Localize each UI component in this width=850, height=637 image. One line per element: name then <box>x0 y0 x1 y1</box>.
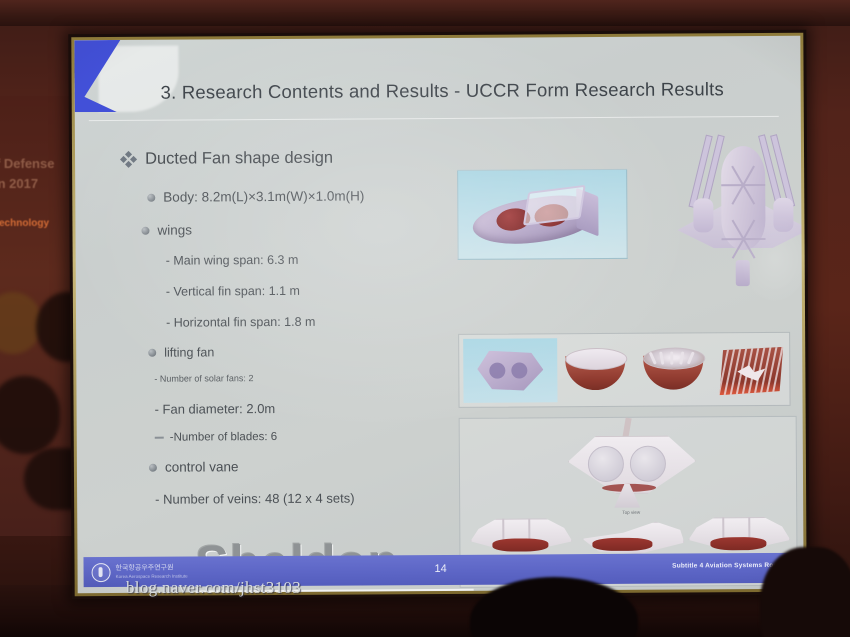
wall-poster: of Defense in 2017 m technology <box>0 96 78 536</box>
bullet-control-vane-label: control vane <box>165 459 239 474</box>
ortho-front-strut-right <box>528 518 530 540</box>
bullet-number-of-blades: -Number of blades: 6 <box>155 431 277 444</box>
bullet-vertical-fin-span: - Vertical fin span: 1.1 m <box>166 284 300 299</box>
aircraft-perspective-illustration <box>472 186 612 245</box>
screen-glare <box>740 214 810 304</box>
bullet-control-vane: control vane <box>149 459 239 475</box>
aircraft-top-view-mini <box>477 350 543 390</box>
figure-perspective-render <box>457 169 628 260</box>
bullet-lifting-fan-label: lifting fan <box>164 345 214 359</box>
bullet-main-wing-span: - Main wing span: 6.3 m <box>166 253 299 268</box>
bullet-horizontal-fin-span: - Horizontal fin span: 1.8 m <box>166 315 315 330</box>
photo-scene: of Defense in 2017 m technology 3. Resea… <box>0 0 850 637</box>
bullet-dot-icon <box>148 349 156 357</box>
bullet-wings: wings <box>141 223 192 238</box>
ortho-front-strut-left <box>502 519 504 541</box>
bullet-wings-label: wings <box>157 223 192 238</box>
bullet-number-of-blades-label: -Number of blades: 6 <box>170 431 277 444</box>
ortho-front-red-band <box>492 538 548 551</box>
ortho-top-view: Top view <box>556 421 707 508</box>
ortho-fan-circle-right <box>630 446 666 482</box>
bullet-solar-fans: - Number of solar fans: 2 <box>154 373 253 384</box>
bullet-dot-icon <box>147 193 155 201</box>
component-fan-in-duct <box>643 347 713 391</box>
ortho-rear-view: Rear view <box>688 513 788 558</box>
section-heading: Ducted Fan shape design <box>121 149 333 169</box>
slide-surface: 3. Research Contents and Results - UCCR … <box>74 36 803 593</box>
bullet-body-label: Body: 8.2m(L)×3.1m(W)×1.0m(H) <box>163 188 364 204</box>
section-heading-label: Ducted Fan shape design <box>145 149 333 169</box>
poster-blob-3 <box>0 376 60 454</box>
dash-icon <box>155 437 164 439</box>
bullet-fan-diameter: - Fan diameter: 2.0m <box>155 401 276 417</box>
poster-line-2: in 2017 <box>0 176 38 191</box>
wall-top-trim <box>0 0 850 26</box>
bullet-lifting-fan: lifting fan <box>148 345 214 359</box>
figure-component-strip <box>458 332 790 408</box>
pod-left <box>693 198 713 232</box>
fan-blades-front <box>720 162 766 208</box>
poster-line-1: of Defense <box>0 156 54 171</box>
caption-top-view: Top view <box>604 510 658 515</box>
component-duct-shroud <box>565 348 635 392</box>
component-control-vanes <box>717 337 785 401</box>
bullet-body: Body: 8.2m(L)×3.1m(W)×1.0m(H) <box>147 188 364 204</box>
title-divider <box>89 116 779 121</box>
ortho-front-view: Front view <box>470 514 570 559</box>
poster-line-3: m technology <box>0 218 49 229</box>
slide-title: 3. Research Contents and Results - UCCR … <box>161 78 724 103</box>
bullet-dot-icon <box>141 226 149 234</box>
corner-triangle-decoration <box>74 40 120 112</box>
component-aircraft-thumbnail <box>463 338 557 403</box>
footer-note: Subtitle 4 Aviation Systems Room <box>672 562 783 570</box>
ortho-rear-strut-left <box>722 517 724 539</box>
ortho-fan-circle-left <box>588 446 624 482</box>
ortho-rear-red-band <box>710 537 766 550</box>
ortho-rear-strut-right <box>748 517 750 539</box>
fan-blade-set <box>651 351 695 365</box>
bullet-dot-icon <box>149 463 157 471</box>
watermark-url-wrap: blog.naver.com/jhst3103 <box>126 575 301 598</box>
watermark-url: blog.naver.com/jhst3103 <box>126 578 301 598</box>
diamond-cluster-icon <box>121 152 136 167</box>
bullet-number-of-veins: - Number of veins: 48 (12 x 4 sets) <box>155 491 355 507</box>
vane-array <box>719 347 783 395</box>
audience-head-silhouette-right <box>760 547 850 637</box>
ortho-right-red-band <box>592 538 652 551</box>
projection-screen: 3. Research Contents and Results - UCCR … <box>68 30 809 599</box>
